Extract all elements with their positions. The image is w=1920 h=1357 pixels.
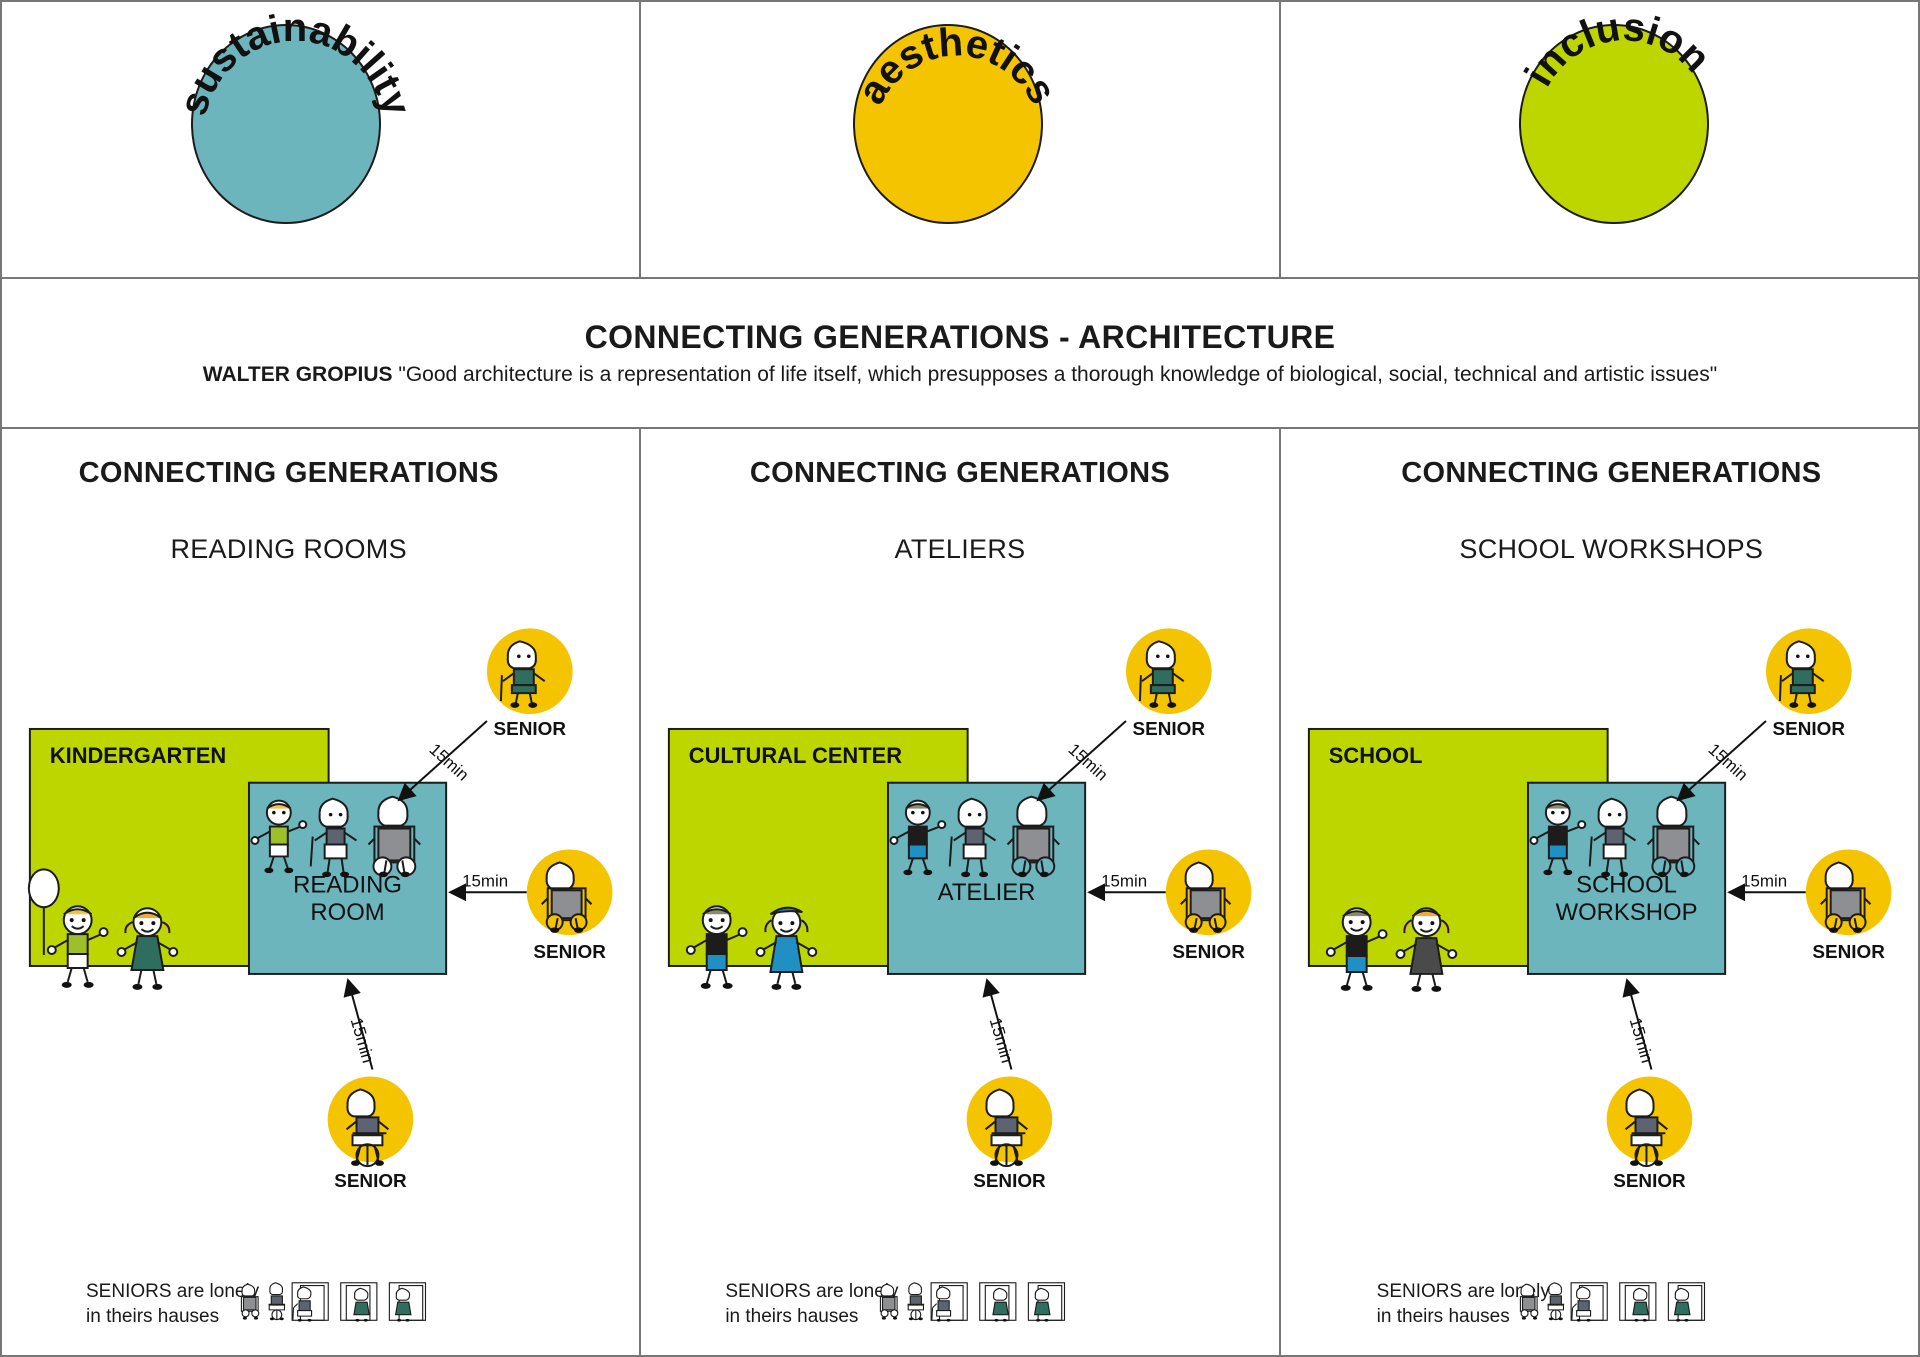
poster-board: sustainability aesthetics: [0, 0, 1920, 1357]
gropius-quote: WALTER GROPIUS "Good architecture is a r…: [203, 362, 1717, 388]
footer-note: SENIORS are lonely in theirs hauses: [641, 1280, 1278, 1329]
concept-cell-inclusion: inclusion: [1281, 2, 1918, 277]
footer-note: SENIORS are lonely in theirs hauses: [2, 1280, 639, 1329]
panel-subtitle: ATELIERS: [641, 534, 1278, 565]
senior-badge-right: SENIOR: [1166, 849, 1252, 963]
senior-label-bottom: SENIOR: [974, 1171, 1047, 1192]
diagram-stage: CULTURAL CENTER: [641, 565, 1278, 1355]
panel-row: CONNECTING GENERATIONS READING ROOMS KIN…: [2, 429, 1918, 1355]
senior-badge-right: SENIOR: [1805, 849, 1891, 963]
diagram-stage: SCHOOL: [1281, 565, 1918, 1355]
footer-figure-strip: [659, 1280, 1296, 1329]
arrow-label-right: 15min: [1741, 871, 1787, 890]
panel-title: CONNECTING GENERATIONS: [1293, 457, 1920, 490]
diagram-stage: KINDERGARTEN: [2, 565, 639, 1355]
arrow-senior-right: 15min: [1731, 871, 1806, 892]
arrow-senior-right: 15min: [452, 871, 527, 892]
aesthetics-label: aesthetics: [849, 20, 1064, 111]
senior-badge-top: SENIOR: [487, 628, 573, 740]
panel-ateliers: CONNECTING GENERATIONS ATELIERS CULTURAL…: [641, 429, 1280, 1355]
footer-note: SENIORS are lonely in theirs hauses: [1281, 1280, 1918, 1329]
arrow-label-top: 15min: [1065, 740, 1112, 785]
quote-text: "Good architecture is a representation o…: [393, 363, 1718, 386]
room-label-line2: WORKSHOP: [1555, 899, 1697, 926]
senior-badge-bottom: SENIOR: [1606, 1077, 1692, 1193]
senior-label-top: SENIOR: [1133, 719, 1206, 740]
arrow-label-right: 15min: [1101, 871, 1147, 890]
panel-school-workshops: CONNECTING GENERATIONS SCHOOL WORKSHOPS …: [1281, 429, 1918, 1355]
arrow-senior-bottom: 15min: [347, 982, 378, 1070]
aesthetics-circle: aesthetics: [853, 24, 1043, 224]
concept-cell-sustainability: sustainability: [2, 2, 641, 277]
footer-figure-strip: [1299, 1280, 1920, 1329]
inclusion-circle: inclusion: [1519, 24, 1709, 224]
concept-row: sustainability aesthetics: [2, 2, 1918, 279]
arrow-senior-bottom: 15min: [986, 982, 1017, 1070]
arrow-label-right: 15min: [462, 871, 508, 890]
inclusion-label: inclusion: [1517, 5, 1719, 93]
sustainability-circle: sustainability: [191, 24, 381, 224]
concept-cell-aesthetics: aesthetics: [641, 2, 1280, 277]
panel-reading-rooms: CONNECTING GENERATIONS READING ROOMS KIN…: [2, 429, 641, 1355]
senior-badge-top: SENIOR: [1766, 628, 1852, 740]
room-label-line2: ROOM: [310, 899, 384, 926]
senior-label-bottom: SENIOR: [334, 1171, 407, 1192]
arrow-senior-right: 15min: [1091, 871, 1166, 892]
inclusion-label-arc: inclusion: [1515, 20, 1725, 230]
senior-label-right: SENIOR: [1173, 942, 1246, 963]
room-label-line1: ATELIER: [938, 879, 1036, 906]
senior-badge-bottom: SENIOR: [328, 1077, 414, 1193]
footer-figure-strip: [20, 1280, 657, 1329]
arrow-senior-bottom: 15min: [1625, 982, 1656, 1070]
senior-label-right: SENIOR: [1812, 942, 1885, 963]
panel-title: CONNECTING GENERATIONS: [641, 457, 1278, 490]
senior-badge-bottom: SENIOR: [967, 1077, 1053, 1193]
senior-badge-top: SENIOR: [1126, 628, 1212, 740]
senior-label-bottom: SENIOR: [1613, 1171, 1686, 1192]
quote-author: WALTER GROPIUS: [203, 363, 393, 386]
senior-label-right: SENIOR: [533, 942, 606, 963]
panel-title: CONNECTING GENERATIONS: [0, 457, 607, 490]
host-label: KINDERGARTEN: [50, 743, 226, 768]
page-title: CONNECTING GENERATIONS - ARCHITECTURE: [585, 319, 1336, 356]
headline-band: CONNECTING GENERATIONS - ARCHITECTURE WA…: [2, 279, 1918, 429]
arrow-label-bottom: 15min: [1625, 1016, 1656, 1066]
host-label: SCHOOL: [1328, 743, 1422, 768]
panel-subtitle: READING ROOMS: [0, 534, 607, 565]
panel-subtitle: SCHOOL WORKSHOPS: [1293, 534, 1920, 565]
arrow-label-top: 15min: [426, 740, 473, 785]
senior-badge-right: SENIOR: [527, 849, 613, 963]
host-label: CULTURAL CENTER: [689, 743, 902, 768]
senior-label-top: SENIOR: [1772, 719, 1845, 740]
arrow-label-bottom: 15min: [986, 1016, 1017, 1066]
senior-label-top: SENIOR: [494, 719, 567, 740]
arrow-label-bottom: 15min: [347, 1016, 378, 1066]
aesthetics-label-arc: aesthetics: [849, 20, 1059, 230]
sustainability-label: sustainability: [171, 6, 419, 121]
arrow-label-top: 15min: [1704, 740, 1751, 785]
sustainability-label-arc: sustainability: [187, 20, 397, 230]
